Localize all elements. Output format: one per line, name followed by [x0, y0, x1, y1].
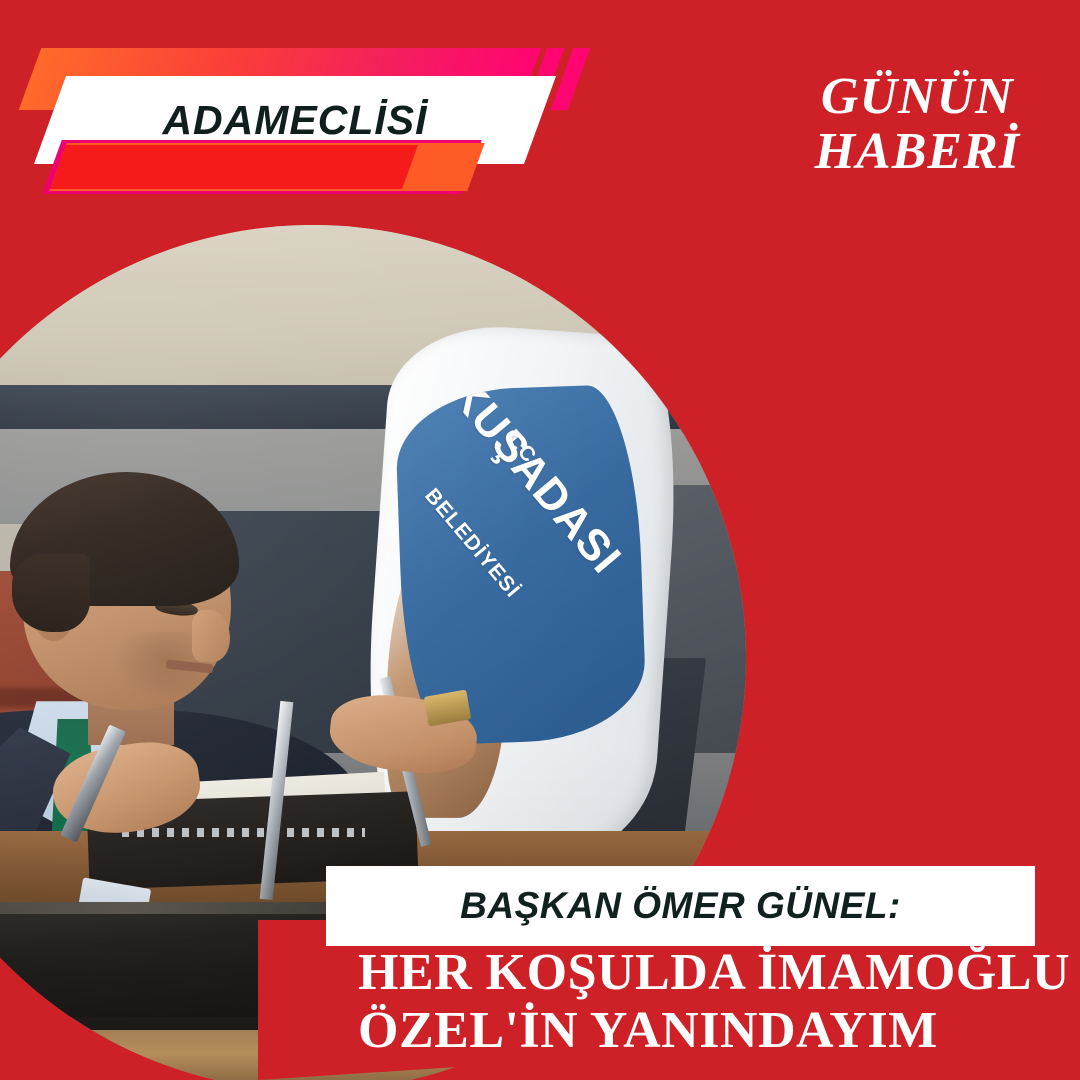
brand-name: ADAMECLİSİ — [50, 76, 540, 164]
news-poster: T.C. KUŞADASI BELEDİYESİ — [0, 0, 1080, 1080]
subject-nose — [192, 610, 230, 662]
section-label-line2: HABERİ — [815, 125, 1020, 180]
headline-line-1: HER KOŞULDA İMAMOĞLU VE — [358, 944, 1058, 1002]
notebook-rings — [122, 828, 364, 838]
flag-emblem: T.C. KUŞADASI BELEDİYESİ — [393, 384, 647, 747]
flag-text-org: BELEDİYESİ — [418, 484, 523, 603]
headline-line-2: ÖZEL'İN YANINDAYIM — [358, 1002, 1058, 1060]
section-label-line1: GÜNÜN — [821, 68, 1014, 125]
caption-headline: HER KOŞULDA İMAMOĞLU VE ÖZEL'İN YANINDAY… — [358, 944, 1058, 1060]
section-label: GÜNÜN HABERİ — [815, 70, 1020, 179]
caption-kicker: BAŞKAN ÖMER GÜNEL: — [460, 885, 901, 927]
subject-hair-side — [12, 554, 90, 632]
brand-banner: ADAMECLİSİ — [0, 48, 640, 188]
caption-kicker-plate: BAŞKAN ÖMER GÜNEL: — [326, 866, 1035, 946]
